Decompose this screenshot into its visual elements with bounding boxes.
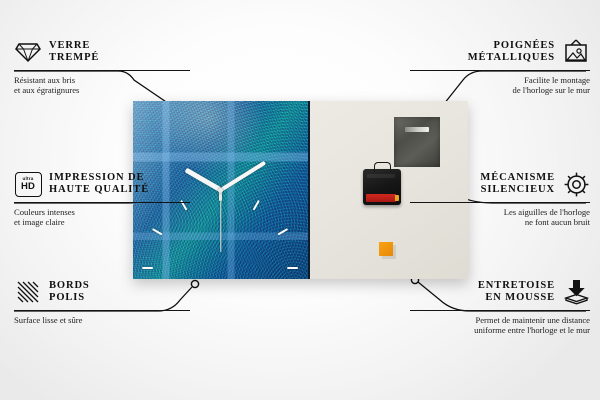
feature-subtitle: Les aiguilles de l'horloge ne font aucun… — [410, 207, 590, 227]
metal-hanger-plate — [394, 117, 440, 167]
picture-frame-hanging-icon — [562, 38, 590, 66]
feature-title: MÉCANISME SILENCIEUX — [480, 172, 555, 197]
feature-subtitle: Facilite le montage de l'horloge sur le … — [410, 75, 590, 95]
battery — [366, 194, 396, 202]
feature-subtitle: Permet de maintenir une distance uniform… — [410, 315, 590, 335]
feature-title: IMPRESSION DE HAUTE QUALITÉ — [49, 172, 149, 197]
feature-title: ENTRETOISE EN MOUSSE — [478, 280, 555, 305]
quartz-mechanism — [363, 169, 401, 205]
feature-divider — [14, 202, 190, 203]
clock-second-hand — [220, 190, 221, 252]
feature-entretoise-en-mousse: ENTRETOISE EN MOUSSE Permet de maintenir… — [410, 278, 590, 335]
feature-divider — [14, 310, 190, 311]
feature-title: POIGNÉES MÉTALLIQUES — [468, 40, 555, 65]
feature-divider — [410, 310, 590, 311]
hanger-slot — [405, 127, 429, 132]
feature-divider — [410, 70, 590, 71]
feature-mecanisme-silencieux: MÉCANISME SILENCIEUX Les aiguilles de l'… — [410, 170, 590, 227]
feature-divider — [410, 202, 590, 203]
diamond-icon — [14, 38, 42, 66]
arrow-down-onto-pad-icon — [562, 278, 590, 306]
mechanism-hanging-loop — [374, 162, 391, 172]
feature-divider — [14, 70, 190, 71]
feature-subtitle: Surface lisse et sûre — [14, 315, 190, 325]
polished-edges-icon — [14, 278, 42, 306]
feature-subtitle: Couleurs intenses et image claire — [14, 207, 190, 227]
foam-spacer — [379, 242, 393, 256]
feature-title: BORDS POLIS — [49, 280, 90, 305]
ultra-hd-icon-large-label: HD — [21, 182, 35, 192]
clock-center-cap — [218, 188, 223, 193]
ultra-hd-icon: ultra HD — [14, 170, 42, 198]
feature-verre-trempe: VERRE TREMPÉ Résistant aux bris et aux é… — [14, 38, 190, 95]
infographic-canvas: VERRE TREMPÉ Résistant aux bris et aux é… — [0, 0, 600, 400]
feature-subtitle: Résistant aux bris et aux égratignures — [14, 75, 190, 95]
mechanism-detail — [367, 174, 395, 178]
feature-bords-polis: BORDS POLIS Surface lisse et sûre — [14, 278, 190, 325]
battery-terminal — [395, 195, 399, 201]
feature-poignees-metalliques: POIGNÉES MÉTALLIQUES Facilite le montage… — [410, 38, 590, 95]
feature-title: VERRE TREMPÉ — [49, 40, 99, 65]
gear-icon — [562, 170, 590, 198]
wire-node-bords-polis — [191, 280, 198, 287]
feature-impression-haute-qualite: ultra HD IMPRESSION DE HAUTE QUALITÉ Cou… — [14, 170, 190, 227]
